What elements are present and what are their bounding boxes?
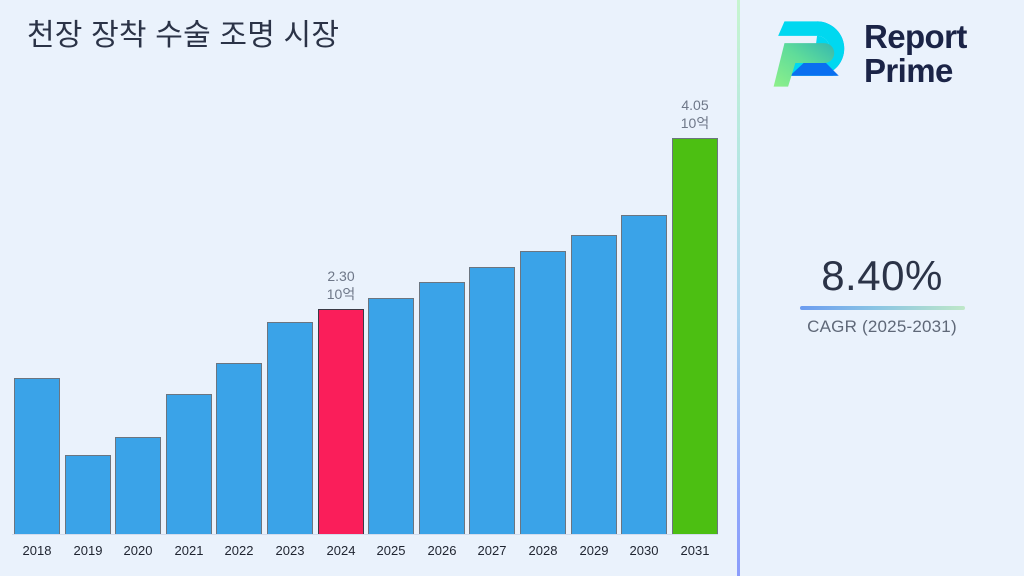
bar-rect-2025 xyxy=(368,298,414,534)
report-prime-logo-mark xyxy=(762,16,854,92)
cagr-value: 8.40% xyxy=(740,252,1024,300)
bar-chart-plot: 2.3010억4.0510억 2018201920202021202220232… xyxy=(0,0,738,576)
cagr-divider-rule xyxy=(800,306,965,310)
logo-wordmark-line1: Report xyxy=(864,20,967,54)
logo-wordmark-line2: Prime xyxy=(864,54,967,88)
bar-rect-2026 xyxy=(419,282,465,534)
bar-value-label-2024: 2.3010억 xyxy=(304,267,378,303)
chart-panel: 천장 장착 수술 조명 시장 2.3010억4.0510억 2018201920… xyxy=(0,0,738,576)
bar-rect-2019 xyxy=(65,455,111,534)
bar-value-label-number-2031: 4.05 xyxy=(658,96,732,114)
cagr-block: 8.40% CAGR (2025-2031) xyxy=(740,252,1024,337)
bar-rect-2024 xyxy=(318,309,364,534)
bar-rect-2023 xyxy=(267,322,313,534)
bar-rect-2028 xyxy=(520,251,566,534)
bar-rect-2029 xyxy=(571,235,617,534)
bar-rect-2031 xyxy=(672,138,718,534)
bar-rect-2020 xyxy=(115,437,161,534)
chart-page: 천장 장착 수술 조명 시장 2.3010억4.0510억 2018201920… xyxy=(0,0,1024,576)
bar-rect-2018 xyxy=(14,378,60,534)
report-prime-logo: Report Prime xyxy=(762,12,1006,96)
bar-value-label-unit-2024: 10억 xyxy=(304,285,378,303)
brand-panel: Report Prime 8.40% CAGR (2025-2031) xyxy=(740,0,1024,576)
bar-value-label-unit-2031: 10억 xyxy=(658,114,732,132)
bar-value-label-2031: 4.0510억 xyxy=(658,96,732,132)
bar-rect-2021 xyxy=(166,394,212,534)
x-tick-2031: 2031 xyxy=(665,543,725,558)
cagr-caption: CAGR (2025-2031) xyxy=(740,317,1024,337)
x-axis-line xyxy=(12,534,718,535)
bar-rect-2027 xyxy=(469,267,515,534)
logo-wordmark: Report Prime xyxy=(864,20,967,88)
bar-rect-2022 xyxy=(216,363,262,534)
bar-rect-2030 xyxy=(621,215,667,534)
bar-value-label-number-2024: 2.30 xyxy=(304,267,378,285)
